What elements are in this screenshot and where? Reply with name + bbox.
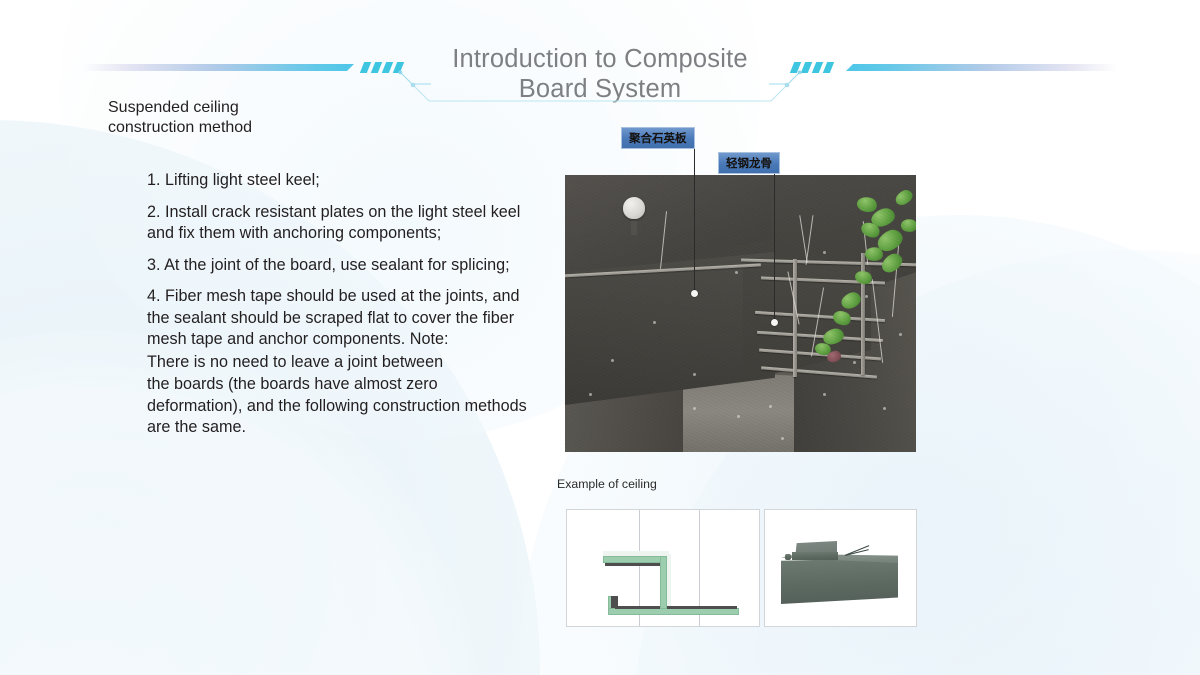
instruction-note-line-2: the boards (the boards have almost zero … <box>147 374 535 439</box>
photo-caption: Example of ceiling <box>557 477 657 491</box>
thumb-3d-render <box>764 509 917 627</box>
page-title-line-1: Introduction to Composite <box>0 44 1200 74</box>
instruction-step-1: 1. Lifting light steel keel; <box>147 170 535 192</box>
ceiling-photo <box>565 175 916 452</box>
instruction-list: 1. Lifting light steel keel; 2. Install … <box>147 170 535 439</box>
callout-polymer-quartz-board: 聚合石英板 <box>621 127 695 149</box>
instruction-step-2: 2. Install crack resistant plates on the… <box>147 202 535 245</box>
ceiling-photo-block: 聚合石英板 轻钢龙骨 <box>565 175 916 452</box>
instruction-step-3: 3. At the joint of the board, use sealan… <box>147 255 535 277</box>
section-heading-line-2: construction method <box>108 118 438 138</box>
callout-leader-line-keel <box>774 166 775 322</box>
instruction-note-line-1: There is no need to leave a joint betwee… <box>147 352 535 374</box>
callout-leader-line-board <box>694 141 695 293</box>
title-underline-decoration-icon <box>410 82 790 104</box>
callout-marker-dot-keel <box>771 319 778 326</box>
section-heading: Suspended ceiling construction method <box>108 98 438 137</box>
callout-light-steel-keel: 轻钢龙骨 <box>718 152 780 174</box>
slide-canvas: Introduction to Composite Board System S… <box>0 0 1200 675</box>
thumb-profile-diagram <box>566 509 760 627</box>
callout-marker-dot-board <box>691 290 698 297</box>
instruction-step-4: 4. Fiber mesh tape should be used at the… <box>147 286 535 351</box>
slide-header: Introduction to Composite Board System <box>0 0 1200 112</box>
section-heading-line-1: Suspended ceiling <box>108 98 438 118</box>
